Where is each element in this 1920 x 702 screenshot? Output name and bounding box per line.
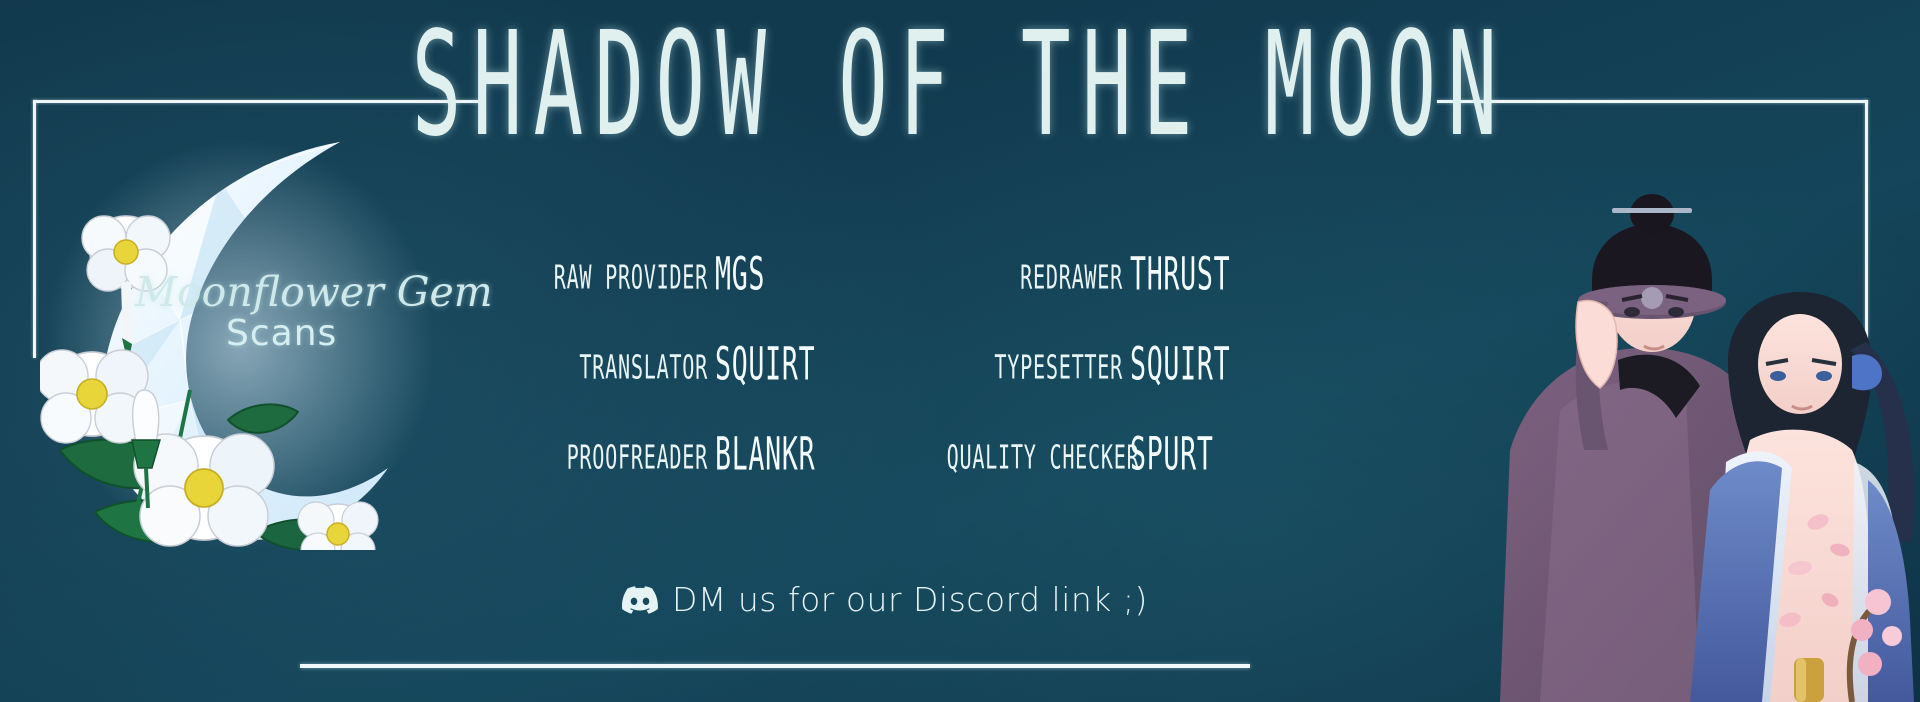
- frame-line-left: [33, 100, 36, 358]
- logo-script-line-1: Moonflower Gem: [135, 272, 455, 312]
- page-title: SHADOW OF THE MOON: [288, 12, 1632, 156]
- credits-row: PROOFREADER BLANKR QUALITY CHECKER SPURT: [478, 432, 1308, 476]
- discord-label: DM us for our Discord link ;): [672, 580, 1148, 619]
- credits-page: SHADOW OF THE MOON: [0, 0, 1920, 702]
- credit-entry-redrawer: REDRAWER THRUST: [878, 252, 1278, 296]
- credit-value: MGS: [708, 248, 765, 301]
- credit-entry-proofreader: PROOFREADER BLANKR: [478, 432, 878, 476]
- credit-label: RAW PROVIDER: [542, 258, 708, 296]
- credit-entry-raw-provider: RAW PROVIDER MGS: [478, 252, 878, 296]
- bottom-divider: [300, 664, 1250, 668]
- credit-label: PROOFREADER: [542, 438, 708, 476]
- credit-label: QUALITY CHECKER: [947, 438, 1123, 476]
- credit-entry-translator: TRANSLATOR SQUIRT: [478, 342, 878, 386]
- credit-label: TRANSLATOR: [542, 348, 708, 386]
- credit-value: SQUIRT: [708, 338, 815, 391]
- credits-row: TRANSLATOR SQUIRT TYPESETTER SQUIRT: [478, 342, 1308, 386]
- credits-table: RAW PROVIDER MGS REDRAWER THRUST TRANSLA…: [478, 252, 1308, 522]
- credits-row: RAW PROVIDER MGS REDRAWER THRUST: [478, 252, 1308, 296]
- logo: Moonflower Gem Scans: [40, 120, 460, 550]
- credit-value: THRUST: [1123, 248, 1230, 301]
- discord-icon: [622, 586, 658, 614]
- credit-entry-typesetter: TYPESETTER SQUIRT: [878, 342, 1278, 386]
- character-artwork: [1500, 150, 1920, 702]
- credit-value: BLANKR: [708, 428, 815, 481]
- credit-value: SPURT: [1123, 428, 1214, 481]
- character-right: [1690, 292, 1914, 702]
- credit-label: TYPESETTER: [947, 348, 1123, 386]
- credit-value: SQUIRT: [1123, 338, 1230, 391]
- discord-invite[interactable]: DM us for our Discord link ;): [622, 580, 1148, 619]
- credit-label: REDRAWER: [947, 258, 1123, 296]
- credit-entry-quality-checker: QUALITY CHECKER SPURT: [878, 432, 1278, 476]
